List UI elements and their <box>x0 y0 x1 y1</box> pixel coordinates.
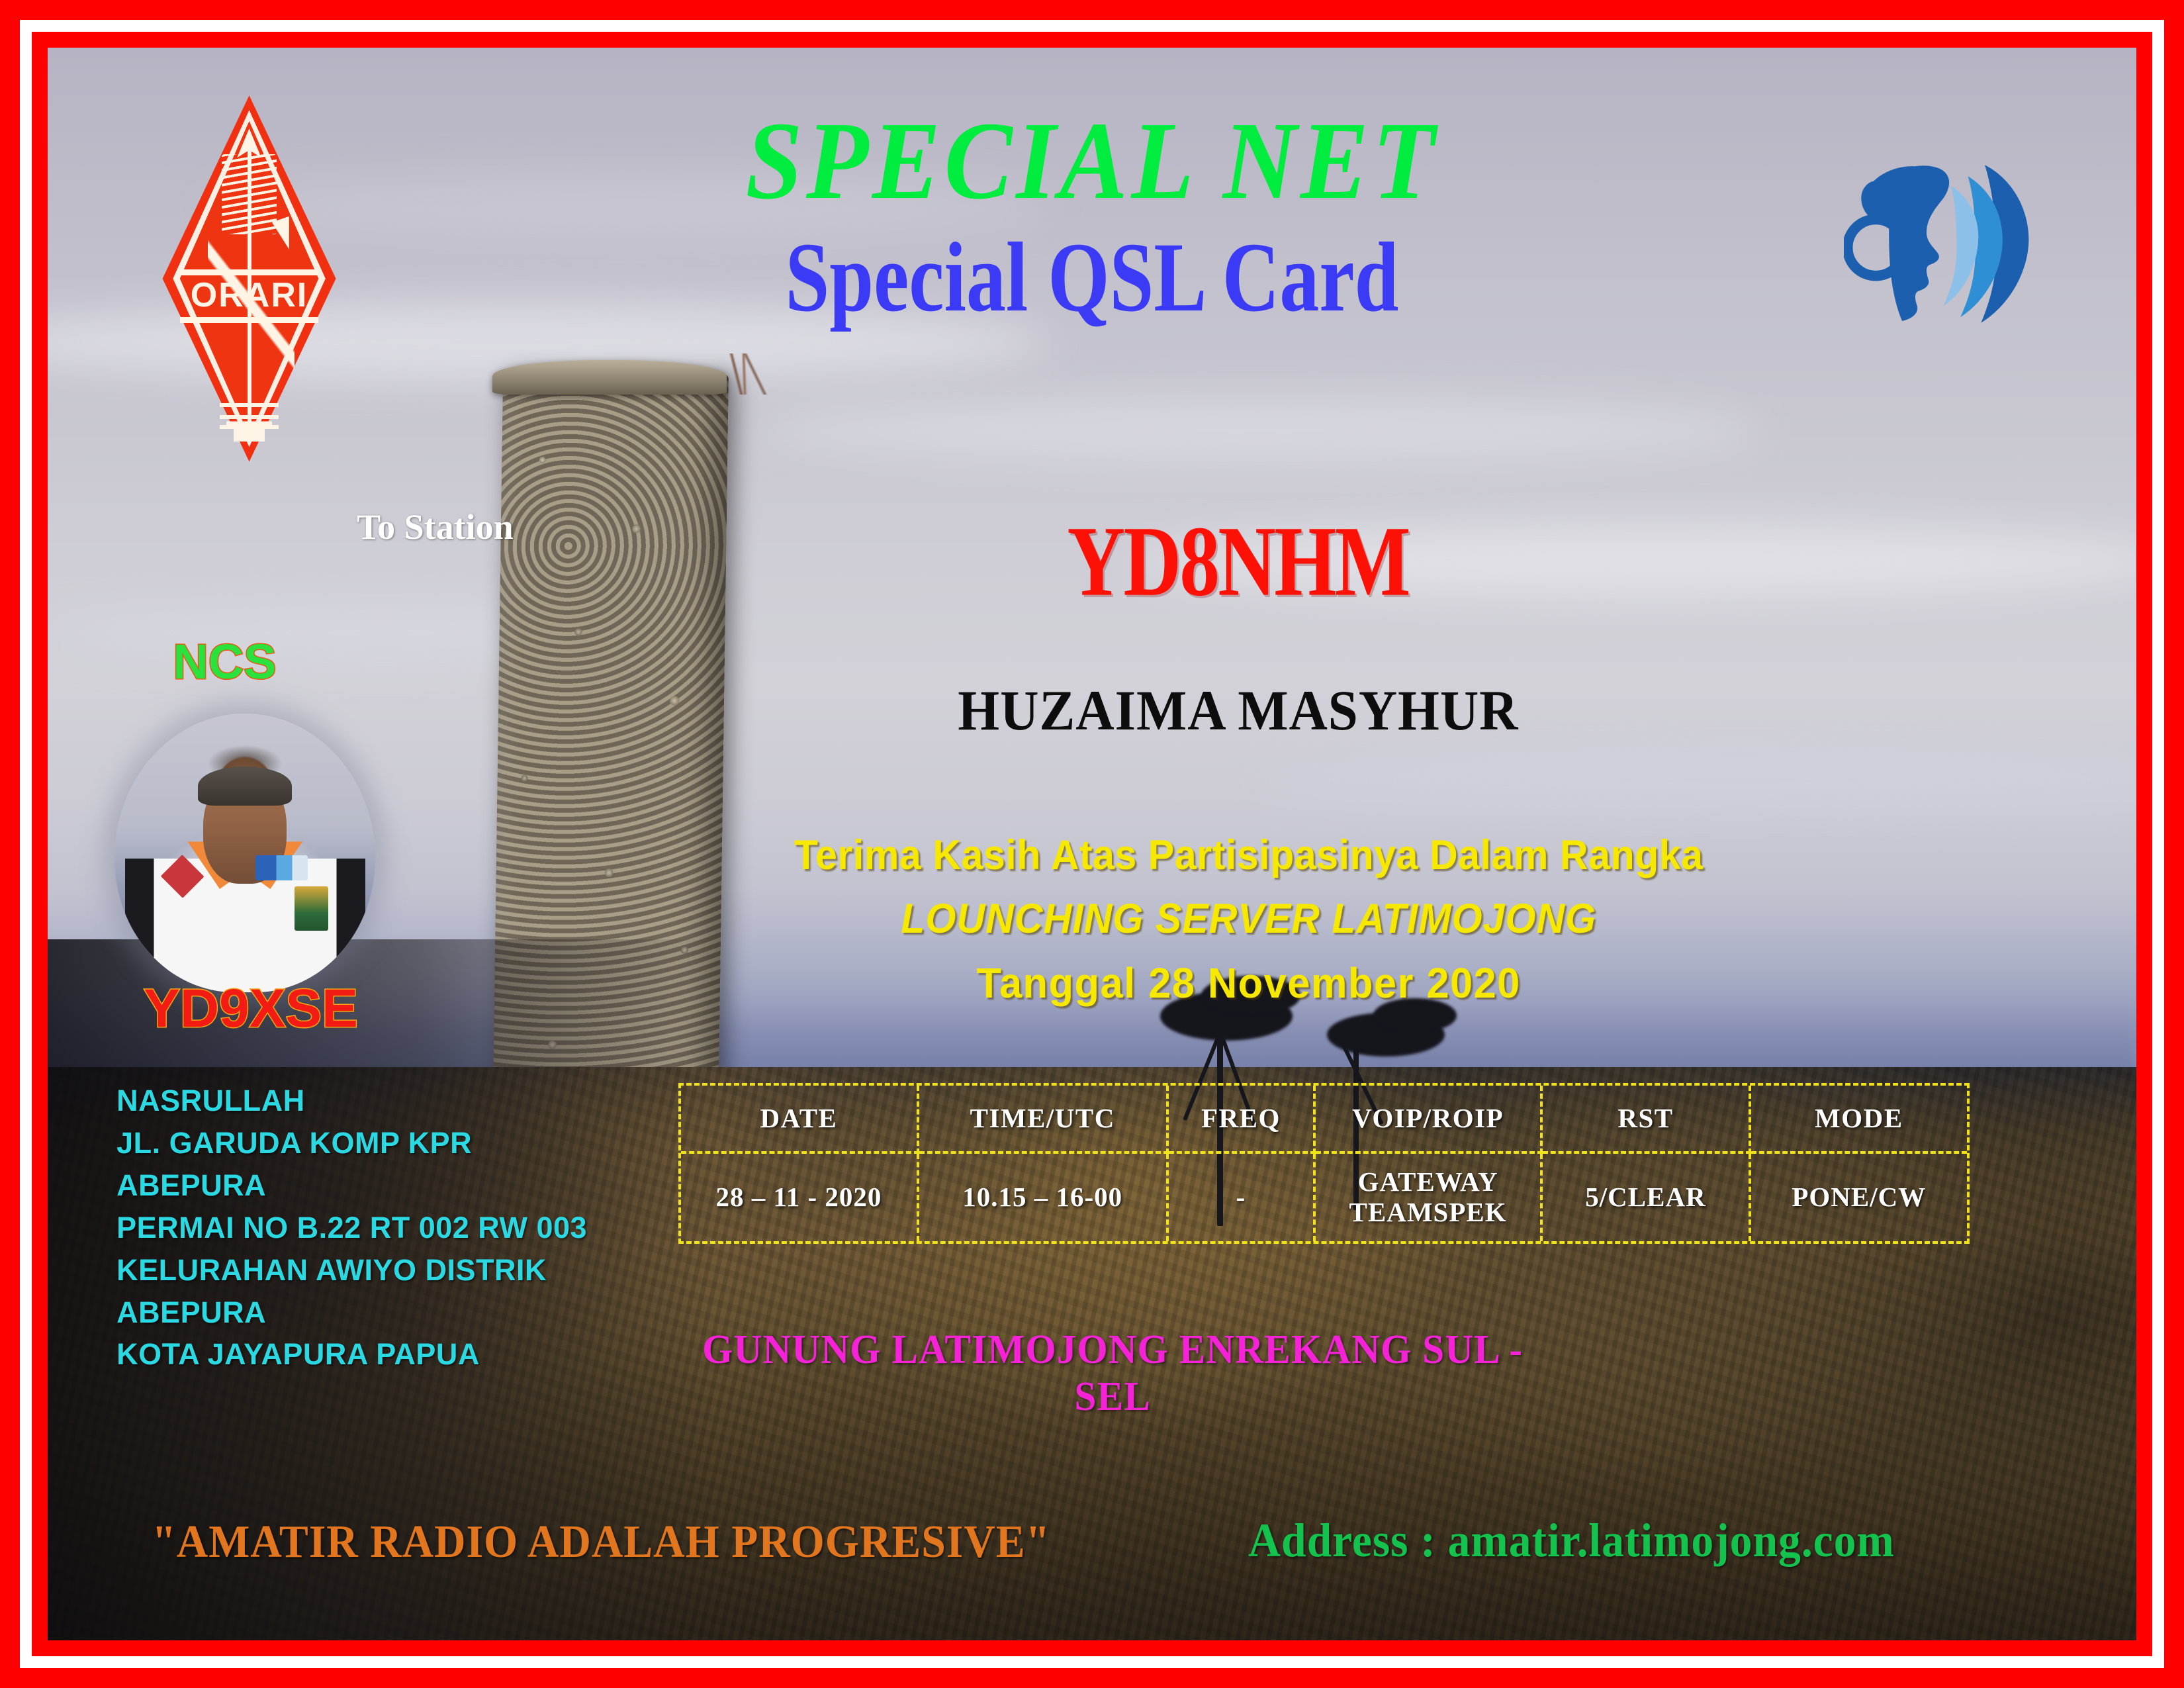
thanks-line-2: LOUNCHING SERVER LATIMOJONG <box>788 898 1710 940</box>
address-line: PERMAI NO B.22 RT 002 RW 003 <box>116 1207 587 1249</box>
page-subtitle: Special QSL Card <box>407 228 1777 327</box>
page-title: SPECIAL NET <box>304 105 1880 216</box>
thanks-line-1: Terima Kasih Atas Partisipasinya Dalam R… <box>788 835 1710 876</box>
table-header-rst: RST <box>1543 1086 1751 1154</box>
orari-wordmark: ORARI <box>163 273 336 317</box>
ncs-address-block: NASRULLAH JL. GARUDA KOMP KPR ABEPURA PE… <box>116 1080 587 1376</box>
table-cell-rst: 5/CLEAR <box>1543 1154 1751 1241</box>
web-address: Address : amatir.latimojong.com <box>1248 1513 1895 1568</box>
qso-log-table: DATE TIME/UTC FREQ VOIP/ROIP RST MODE 28… <box>678 1083 1969 1244</box>
table-header-voip-roip: VOIP/ROIP <box>1316 1086 1543 1154</box>
table-header-mode: MODE <box>1751 1086 1966 1154</box>
location-caption: GUNUNG LATIMOJONG ENREKANG SUL - SEL <box>662 1327 1564 1421</box>
table-header-freq: FREQ <box>1169 1086 1316 1154</box>
address-line: KELURAHAN AWIYO DISTRIK <box>116 1249 587 1291</box>
card-photo-background: ORARI SPECIAL NET Special QSL C <box>48 48 2136 1640</box>
table-header-time: TIME/UTC <box>919 1086 1169 1154</box>
id-badge <box>295 886 328 931</box>
operator-hair <box>198 767 292 806</box>
ncs-label: NCS <box>173 633 276 690</box>
table-cell-date: 28 – 11 - 2020 <box>681 1154 919 1241</box>
table-cell-voip-roip: GATEWAY TEAMSPEK <box>1316 1154 1543 1241</box>
orari-ground-symbol-icon <box>234 427 265 442</box>
card-content-layer: ORARI SPECIAL NET Special QSL C <box>48 48 2136 1640</box>
table-cell-freq: - <box>1169 1154 1316 1241</box>
address-line: KOTA JAYAPURA PAPUA <box>116 1333 587 1376</box>
station-operator-name: HUZAIMA MASYHUR <box>787 682 1690 739</box>
table-cell-mode: PONE/CW <box>1751 1154 1966 1241</box>
orari-bar-bottom <box>180 317 319 323</box>
address-line: ABEPURA <box>116 1291 587 1334</box>
address-line: JL. GARUDA KOMP KPR <box>116 1122 587 1164</box>
table-cell-time: 10.15 – 16-00 <box>919 1154 1169 1241</box>
ncs-operator-photo <box>114 714 376 992</box>
station-callsign: YD8NHM <box>873 511 1603 612</box>
address-line: ABEPURA <box>116 1164 587 1207</box>
table-header-date: DATE <box>681 1086 919 1154</box>
address-line: NASRULLAH <box>116 1080 587 1122</box>
qsl-card-frame: ORARI SPECIAL NET Special QSL C <box>0 0 2184 1688</box>
ncs-callsign: YD9XSE <box>144 978 358 1040</box>
thanks-line-3: Tanggal 28 November 2020 <box>778 962 1720 1004</box>
motto-text: "AMATIR RADIO ADALAH PROGRESIVE" <box>152 1516 1050 1569</box>
to-station-label: To Station <box>357 506 514 547</box>
uniform-emblem-icon <box>255 855 308 880</box>
